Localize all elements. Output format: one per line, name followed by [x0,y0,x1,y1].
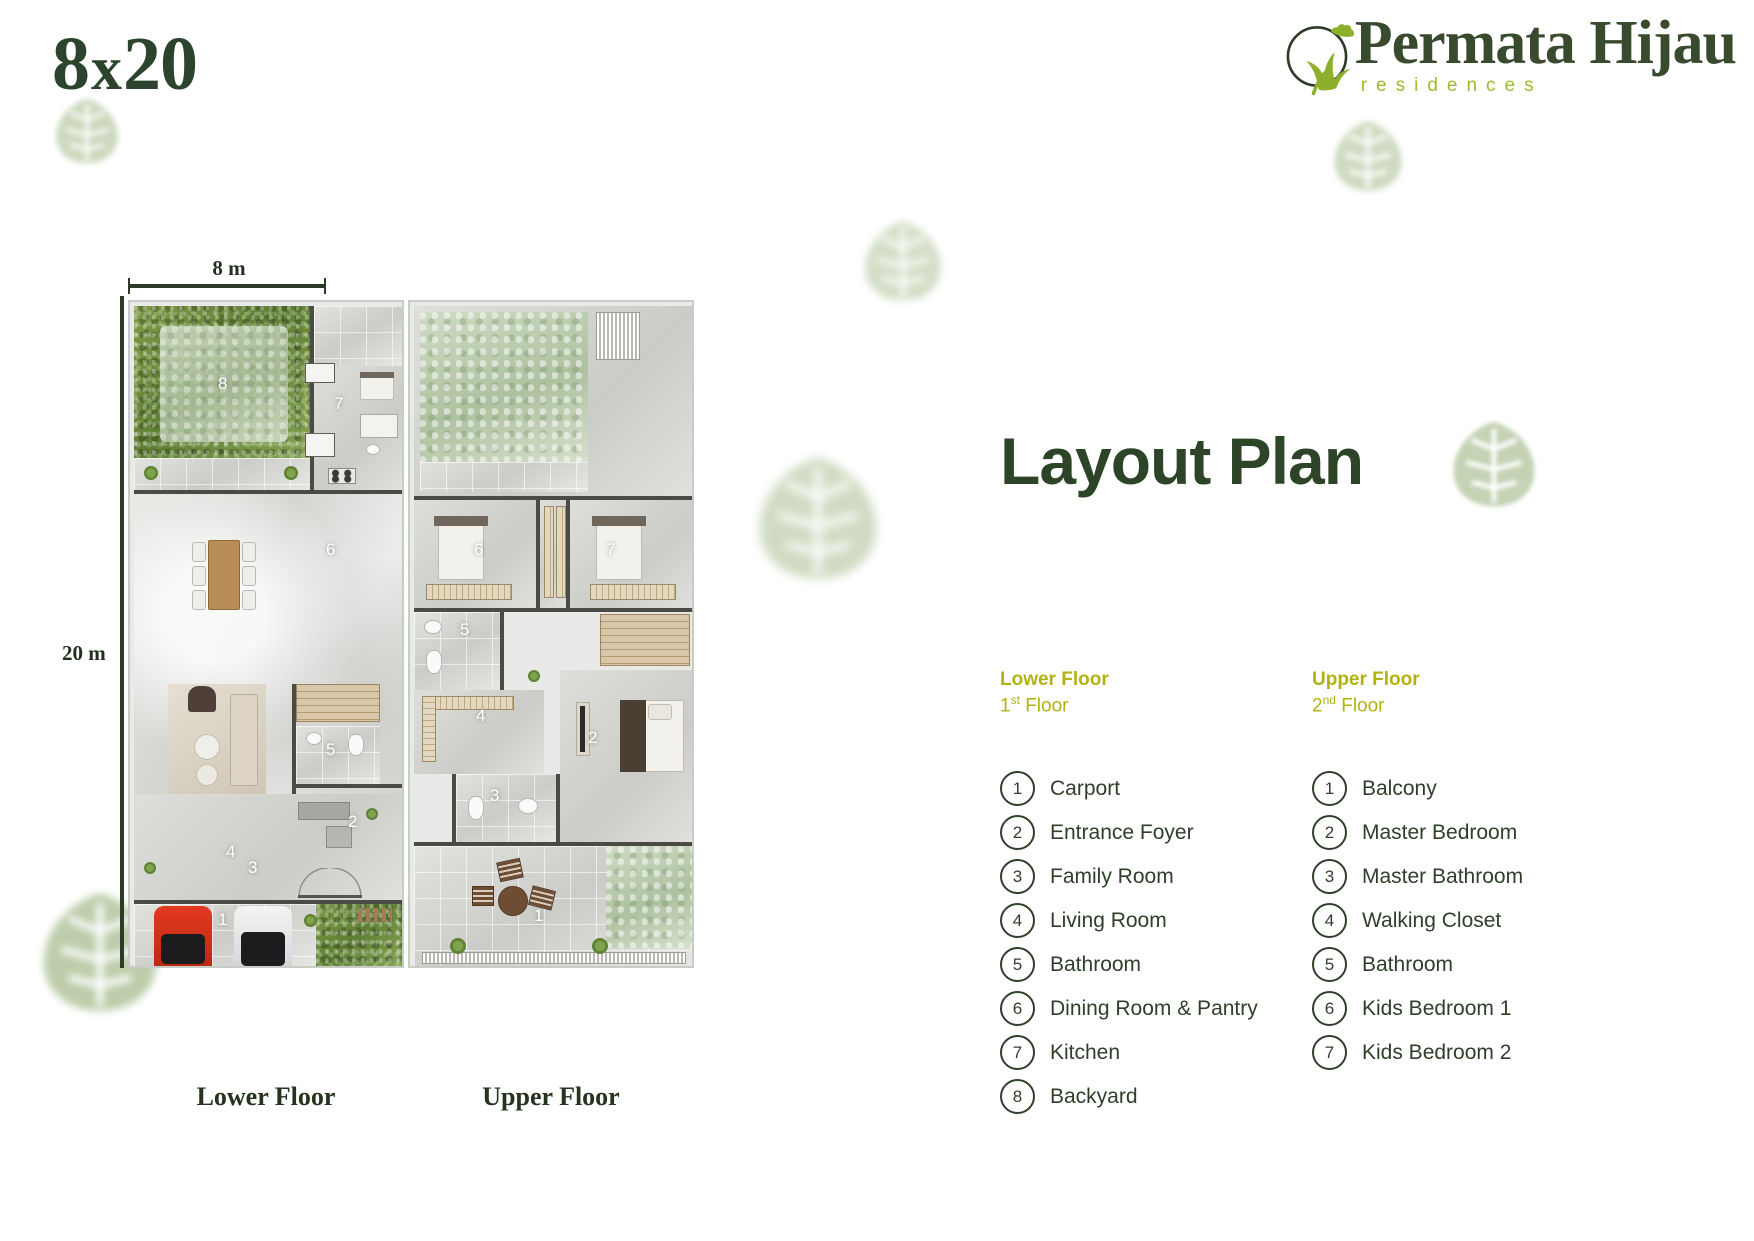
legend-item[interactable]: 5 Bathroom [1312,943,1642,987]
bed-headboard [434,516,488,526]
legend-badge: 1 [1000,771,1035,806]
plant-icon [144,466,158,480]
sink-icon [518,798,538,814]
plant-icon [144,862,156,874]
room-number-8: 8 [218,374,227,394]
wall-segment [414,608,694,612]
wall-segment [414,842,694,846]
legend-label: Bathroom [1050,953,1141,977]
floorplan-upper[interactable]: 6 7 5 4 3 [408,300,694,968]
legend-lower-floor-word: Floor [1020,695,1069,716]
brand-logo: Permata Hijau residences [1273,14,1736,114]
wall-segment [310,306,314,490]
balcony-chair [472,886,494,906]
car-windshield [241,932,285,966]
balcony-side-garden [606,846,694,948]
dining-chair [242,542,256,562]
room-number-5: 5 [326,740,335,760]
car-windshield [161,934,205,964]
balcony-table [498,886,528,916]
size-title-length: 20 [123,22,197,106]
room-number-6: 6 [326,540,335,560]
closet-unit [544,506,554,598]
legend-label: Kitchen [1050,1041,1120,1065]
sofa [230,694,258,786]
legend-badge: 4 [1312,903,1347,938]
legend-label: Master Bathroom [1362,865,1523,889]
wall-segment [536,500,540,608]
room-number-5: 5 [460,620,469,640]
page-title-size: 8x20 [52,26,197,102]
legend-upper-list: 1 Balcony 2 Master Bedroom 3 Master Bath… [1312,767,1642,1075]
legend-label: Kids Bedroom 2 [1362,1041,1511,1065]
legend-badge: 6 [1312,991,1347,1026]
armchair [188,686,216,712]
wardrobe [590,584,676,600]
legend-lower-ordinal: 1 [1000,695,1011,716]
dimension-height-line [120,296,124,968]
legend-upper-subheading: 2nd Floor [1312,693,1642,719]
brand-name: Permata Hijau [1355,14,1736,73]
service-area [314,306,402,366]
plant-icon [366,808,378,820]
legend-lower-heading: Lower Floor [1000,668,1330,692]
legend-badge: 1 [1312,771,1347,806]
toilet-icon [426,650,442,674]
legend-label: Kids Bedroom 1 [1362,997,1511,1021]
coffee-table [194,734,220,760]
car-white [234,906,292,968]
legend-badge: 3 [1312,859,1347,894]
room-number-3: 3 [490,786,499,806]
legend-item[interactable]: 1 Carport [1000,767,1330,811]
roof-railing [596,312,640,360]
legend-label: Walking Closet [1362,909,1501,933]
room-number-2: 2 [348,812,357,832]
legend-item[interactable]: 1 Balcony [1312,767,1642,811]
dimension-width-label: 8 m [134,256,324,281]
page-root: 8x20 Permata Hijau residences 8 m 20 m 8 [0,0,1754,1241]
leaf-decoration-icon [52,96,122,166]
sink-icon [366,444,380,455]
dining-chair [192,566,206,586]
roof-garden [420,312,588,462]
leaf-decoration-icon [1330,118,1406,194]
fence-detail [358,908,392,922]
legend-label: Carport [1050,777,1120,801]
legend-item[interactable]: 6 Kids Bedroom 1 [1312,987,1642,1031]
balcony-railing [422,952,686,964]
legend-badge: 6 [1000,991,1035,1026]
room-number-6: 6 [474,540,483,560]
legend-label: Balcony [1362,777,1437,801]
leaf-decoration-icon [752,452,884,584]
legend-item[interactable]: 5 Bathroom [1000,943,1330,987]
dining-chair [242,566,256,586]
stove-icon [328,468,356,484]
legend-item[interactable]: 8 Backyard [1000,1075,1330,1119]
legend-item[interactable]: 7 Kids Bedroom 2 [1312,1031,1642,1075]
legend-label: Backyard [1050,1085,1138,1109]
bed-headboard [592,516,646,526]
legend-item[interactable]: 4 Walking Closet [1312,899,1642,943]
double-door-icon [298,868,362,898]
legend-badge: 5 [1000,947,1035,982]
wall-segment [134,490,402,494]
wall-segment [134,900,402,904]
wall-segment [500,612,504,690]
legend-lower-list: 1 Carport 2 Entrance Foyer 3 Family Room… [1000,767,1330,1119]
toilet-icon [468,796,484,820]
layout-plan-title: Layout Plan [1000,428,1363,494]
legend-item[interactable]: 3 Master Bathroom [1312,855,1642,899]
caption-lower-floor: Lower Floor [128,1082,404,1112]
legend-lower-subheading: 1st Floor [1000,693,1330,719]
legend-badge: 3 [1000,859,1035,894]
room-number-4: 4 [476,706,485,726]
door-opening [306,434,334,456]
door-opening [306,364,334,382]
service-bed-headboard [360,372,394,378]
legend-label: Entrance Foyer [1050,821,1194,845]
wall-segment [296,784,402,788]
legend-item[interactable]: 4 Living Room [1000,899,1330,943]
closet-unit [556,506,566,598]
room-number-2: 2 [588,728,597,748]
plant-icon [528,670,540,682]
plant-icon [450,938,466,954]
legend-lower-ordinal-suffix: st [1011,693,1020,707]
roof-paving [420,462,588,492]
dining-chair [192,542,206,562]
plant-icon [592,938,608,954]
legend-item[interactable]: 3 Family Room [1000,855,1330,899]
legend-upper-ordinal-suffix: nd [1323,693,1336,707]
leaf-logo-icon [1273,16,1361,104]
legend-badge: 4 [1000,903,1035,938]
staircase [600,614,690,666]
legend-upper-heading: Upper Floor [1312,668,1642,692]
dining-table [208,540,240,610]
toilet-icon [348,734,364,756]
wardrobe [426,584,512,600]
room-number-7: 7 [606,540,615,560]
legend-badge: 7 [1312,1035,1347,1070]
bed-pillow [648,704,672,720]
legend-item[interactable]: 2 Entrance Foyer [1000,811,1330,855]
wall-segment [452,774,456,842]
wall-segment [292,684,296,794]
legend-label: Living Room [1050,909,1167,933]
wall-segment [566,500,570,608]
legend-badge: 5 [1312,947,1347,982]
size-title-width: 8 [52,22,89,106]
sink-icon [424,620,442,634]
kitchen-counter [360,414,398,438]
legend-label: Bathroom [1362,953,1453,977]
legend-badge: 8 [1000,1079,1035,1114]
master-bed-throw [620,700,646,772]
legend-badge: 7 [1000,1035,1035,1070]
plant-icon [304,914,317,927]
legend-upper-floor-word: Floor [1336,695,1385,716]
legend-item[interactable]: 6 Dining Room & Pantry [1000,987,1330,1031]
closet-run-vertical [422,696,436,762]
car-red [154,906,212,968]
side-table [196,764,218,786]
dining-chair [242,590,256,610]
legend-badge: 2 [1312,815,1347,850]
wall-segment [556,774,560,842]
leaf-decoration-icon [1448,418,1540,510]
room-number-3: 3 [248,858,257,878]
staircase [296,684,380,722]
plant-icon [284,466,298,480]
room-number-1: 1 [534,906,543,926]
room-number-7: 7 [334,394,343,414]
legend-upper-floor: Upper Floor 2nd Floor 1 Balcony 2 Master… [1312,668,1642,1075]
room-number-1: 1 [218,910,227,930]
legend-item[interactable]: 2 Master Bedroom [1312,811,1642,855]
dining-chair [192,590,206,610]
brand-subtitle: residences [1361,75,1736,97]
wall-segment [414,496,694,500]
size-title-x: x [89,35,123,103]
sink-icon [306,732,322,745]
legend-label: Master Bedroom [1362,821,1517,845]
legend-label: Family Room [1050,865,1174,889]
floorplan-lower[interactable]: 8 7 6 4 [128,300,404,968]
legend-item[interactable]: 7 Kitchen [1000,1031,1330,1075]
room-number-4: 4 [226,842,235,862]
legend-lower-floor: Lower Floor 1st Floor 1 Carport 2 Entran… [1000,668,1330,1119]
dimension-width-line [128,284,326,288]
caption-upper-floor: Upper Floor [408,1082,694,1112]
legend-badge: 2 [1000,815,1035,850]
leaf-decoration-icon [860,218,946,304]
dimension-height-label: 20 m [62,641,106,666]
legend-upper-ordinal: 2 [1312,695,1323,716]
brand-text: Permata Hijau residences [1355,14,1736,97]
tv-console [298,802,350,820]
legend-label: Dining Room & Pantry [1050,997,1258,1021]
tv-screen [580,706,585,752]
bed [596,520,642,580]
